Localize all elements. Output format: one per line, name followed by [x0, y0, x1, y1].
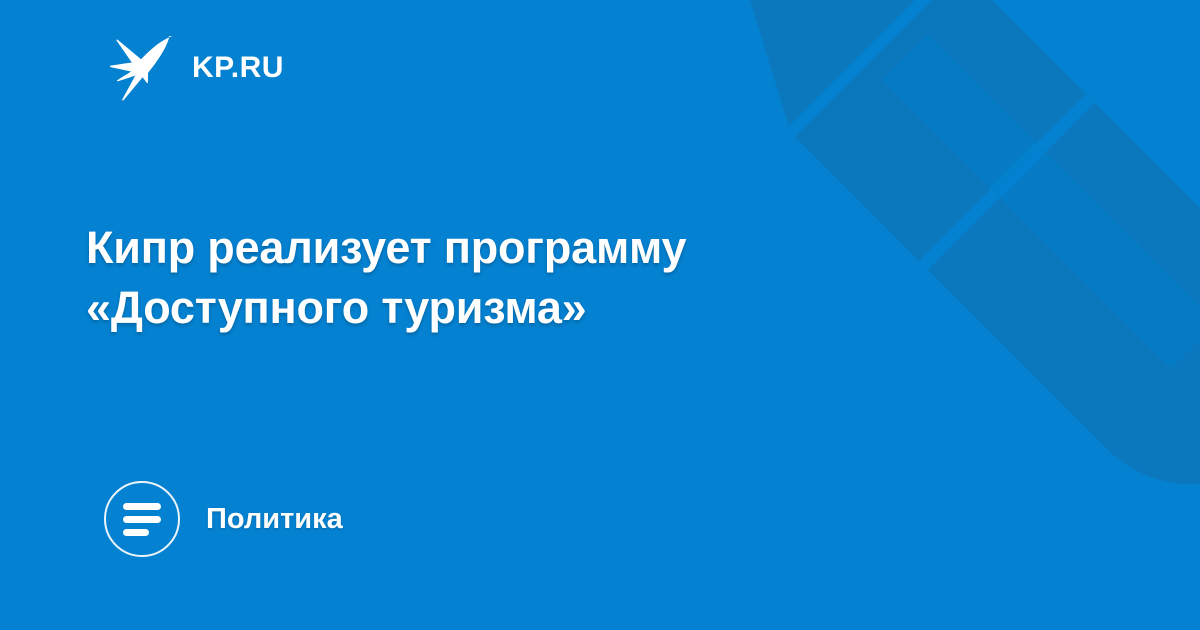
category-badge[interactable]: Политика [104, 481, 343, 557]
swallow-bird-icon [108, 34, 174, 102]
page-title-line-2: «Доступного туризма» [86, 278, 926, 338]
hamburger-line-2 [123, 516, 161, 523]
hamburger-menu-icon[interactable] [104, 481, 180, 557]
share-card: KP.RU Кипр реализует программу «Доступно… [0, 0, 1200, 630]
category-label[interactable]: Политика [206, 505, 343, 534]
hamburger-line-1 [123, 503, 161, 510]
page-title: Кипр реализует программу «Доступного тур… [86, 218, 926, 338]
page-title-line-1: Кипр реализует программу [86, 218, 926, 278]
brand-name: KP.RU [192, 53, 284, 83]
brand-logo[interactable]: KP.RU [108, 34, 284, 102]
hamburger-line-3 [123, 529, 149, 536]
hamburger-lines [123, 503, 161, 536]
